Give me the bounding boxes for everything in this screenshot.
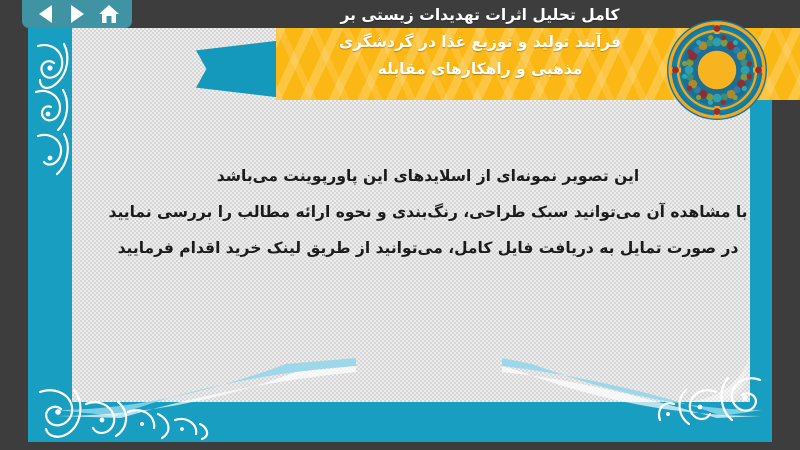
navigation-button-group — [22, 0, 132, 28]
body-line-2: با مشاهده آن می‌توانید سبک طراحی، رنگ‌بن… — [78, 194, 772, 230]
islamic-medallion-icon — [665, 18, 769, 122]
back-button[interactable] — [32, 3, 58, 25]
forward-triangle-icon — [71, 5, 84, 23]
body-line-1: این تصویر نمونه‌ای از اسلایدهای این پاور… — [78, 158, 772, 194]
back-triangle-icon — [39, 5, 52, 23]
slide-body-text: این تصویر نمونه‌ای از اسلایدهای این پاور… — [78, 158, 772, 266]
body-line-3: در صورت تمایل به دریافت فایل کامل، می‌تو… — [78, 230, 772, 266]
home-icon — [98, 4, 120, 24]
home-button[interactable] — [96, 3, 122, 25]
frame-border-left — [28, 28, 72, 442]
forward-button[interactable] — [64, 3, 90, 25]
bottom-dark-strip — [0, 442, 800, 450]
frame-border-bottom — [28, 402, 772, 442]
